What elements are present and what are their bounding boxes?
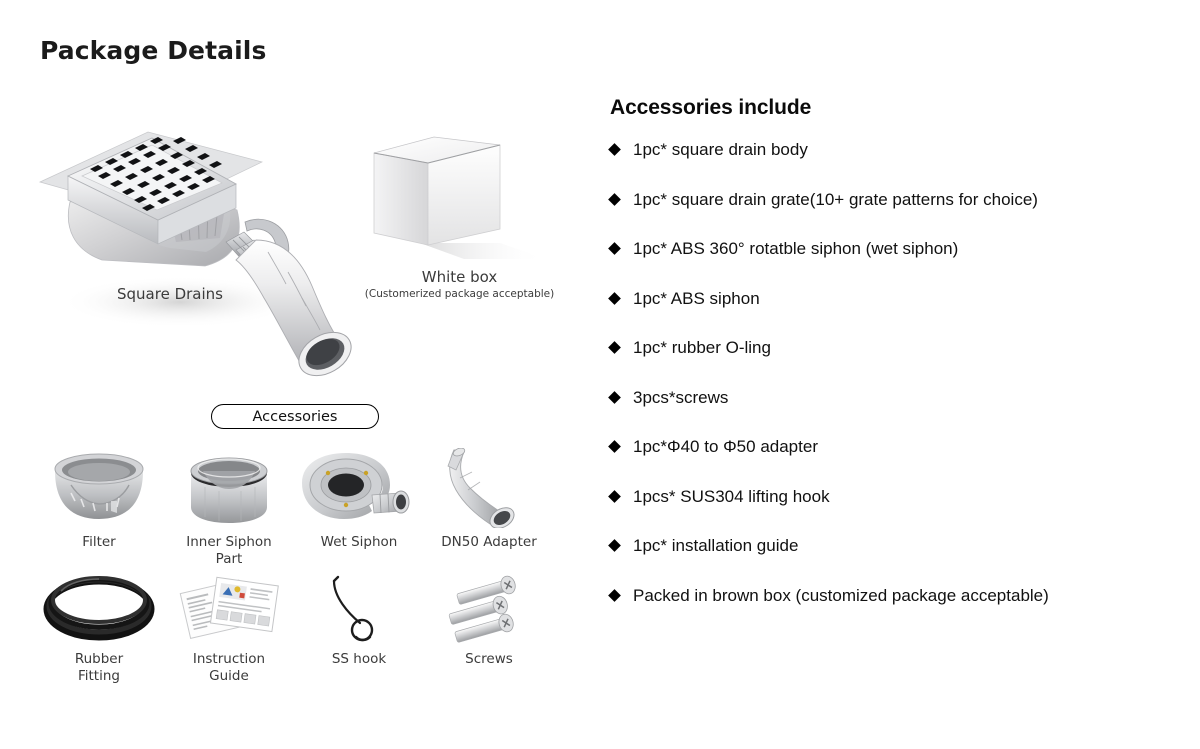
list-item: 1pc* square drain body: [610, 139, 1170, 189]
accessory-label: SS hook: [332, 651, 386, 668]
accessories-include-heading: Accessories include: [610, 96, 1170, 120]
diamond-bullet-icon: [608, 292, 621, 305]
ss-lifting-hook-icon: [294, 573, 424, 645]
accessory-row: Rubber Fitting: [34, 573, 554, 693]
accessory-label: DN50 Adapter: [441, 534, 537, 551]
diamond-bullet-icon: [608, 341, 621, 354]
accessory-item-wet-siphon: Wet Siphon: [294, 448, 424, 573]
accessory-item-ss-hook: SS hook: [294, 573, 424, 693]
accessory-label: Screws: [465, 651, 513, 668]
white-box-caption: White box (Customerized package acceptab…: [352, 268, 567, 301]
list-item-text: 1pc*Φ40 to Φ50 adapter: [633, 436, 818, 458]
list-item: 3pcs*screws: [610, 387, 1170, 437]
list-item-text: 1pc* square drain grate(10+ grate patter…: [633, 189, 1038, 211]
list-item-text: 1pc* ABS siphon: [633, 288, 760, 310]
diamond-bullet-icon: [608, 143, 621, 156]
white-box-caption-main: White box: [352, 268, 567, 287]
rubber-o-ring-icon: [34, 573, 164, 645]
list-item: 1pcs* SUS304 lifting hook: [610, 486, 1170, 536]
accessory-item-screws: Screws: [424, 573, 554, 693]
instruction-guide-sheets-icon: [164, 573, 294, 645]
diamond-bullet-icon: [608, 391, 621, 404]
accessory-grid: Filter: [34, 448, 554, 693]
list-item: Packed in brown box (customized package …: [610, 585, 1170, 635]
white-box-caption-sub: (Customerized package acceptable): [352, 287, 567, 301]
accessory-label: Rubber Fitting: [75, 651, 123, 685]
list-item-text: 1pc* rubber O-ling: [633, 337, 771, 359]
list-item-text: 3pcs*screws: [633, 387, 728, 409]
right-column: Accessories include 1pc* square drain bo…: [610, 96, 1170, 634]
list-item: 1pc* ABS 360° rotatble siphon (wet sipho…: [610, 238, 1170, 288]
list-item: 1pc* rubber O-ling: [610, 337, 1170, 387]
list-item: 1pc*Φ40 to Φ50 adapter: [610, 436, 1170, 486]
list-item-text: 1pc* installation guide: [633, 535, 798, 557]
left-column: Square Drains: [0, 80, 590, 749]
accessory-label: Filter: [82, 534, 115, 551]
dn50-adapter-elbow-icon: [424, 448, 554, 528]
list-item: 1pc* ABS siphon: [610, 288, 1170, 338]
accessory-row: Filter: [34, 448, 554, 573]
diamond-bullet-icon: [608, 193, 621, 206]
diamond-bullet-icon: [608, 242, 621, 255]
square-drains-caption: Square Drains: [60, 285, 280, 303]
diamond-bullet-icon: [608, 490, 621, 503]
list-item-text: 1pc* square drain body: [633, 139, 808, 161]
accessory-label: Instruction Guide: [193, 651, 265, 685]
white-box-image: [360, 125, 560, 270]
page-title: Package Details: [40, 36, 266, 65]
diamond-bullet-icon: [608, 440, 621, 453]
list-item: 1pc* square drain grate(10+ grate patter…: [610, 189, 1170, 239]
accessory-item-filter: Filter: [34, 448, 164, 573]
screws-icon: [424, 573, 554, 645]
filter-cup-icon: [34, 448, 164, 528]
accessory-item-instruction-guide: Instruction Guide: [164, 573, 294, 693]
list-item-text: 1pcs* SUS304 lifting hook: [633, 486, 830, 508]
square-drain-product-image: [30, 90, 360, 380]
list-item-text: 1pc* ABS 360° rotatble siphon (wet sipho…: [633, 238, 958, 260]
list-item: 1pc* installation guide: [610, 535, 1170, 585]
accessories-include-list: 1pc* square drain body 1pc* square drain…: [610, 139, 1170, 634]
diamond-bullet-icon: [608, 539, 621, 552]
accessories-pill-label: Accessories: [253, 409, 338, 425]
accessory-item-inner-siphon-part: Inner Siphon Part: [164, 448, 294, 573]
accessories-pill-badge: Accessories: [211, 404, 379, 429]
inner-siphon-part-icon: [164, 448, 294, 528]
accessory-item-rubber-fitting: Rubber Fitting: [34, 573, 164, 693]
accessory-label: Inner Siphon Part: [186, 534, 272, 568]
accessory-label: Wet Siphon: [321, 534, 398, 551]
accessory-item-dn50-adapter: DN50 Adapter: [424, 448, 554, 573]
wet-siphon-icon: [294, 448, 424, 528]
diamond-bullet-icon: [608, 589, 621, 602]
list-item-text: Packed in brown box (customized package …: [633, 585, 1049, 607]
